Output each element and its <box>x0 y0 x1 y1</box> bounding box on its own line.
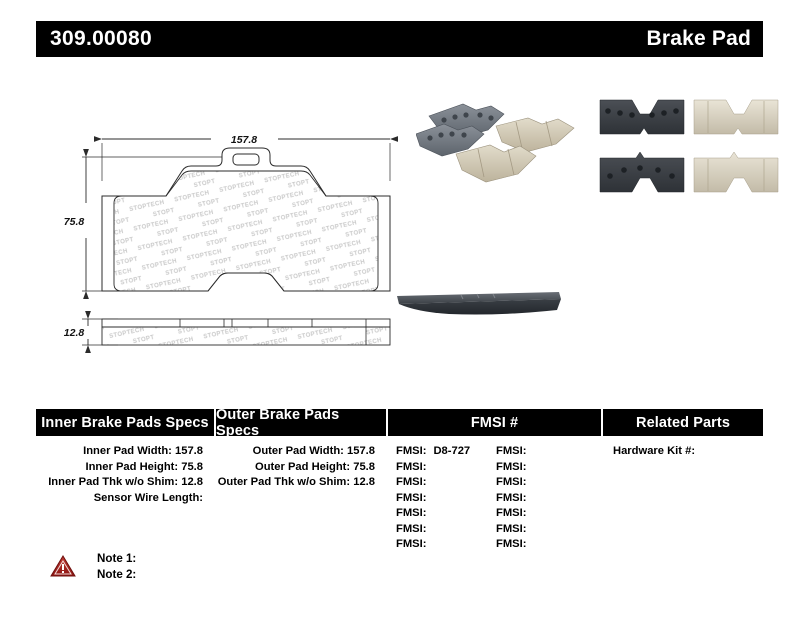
pad-edge-view <box>102 319 390 345</box>
table-body-row: Inner Pad Width: 157.8 Inner Pad Height:… <box>36 436 763 553</box>
fmsi-label: FMSI: <box>496 460 526 476</box>
spec-value: 157.8 <box>347 445 375 457</box>
fmsi-label: FMSI: <box>396 522 426 538</box>
spec-value: 75.8 <box>181 461 203 473</box>
notes-text: Note 1: Note 2: <box>97 551 136 583</box>
photo-pad-edge <box>391 280 566 330</box>
photo-pads-angled <box>416 90 586 190</box>
fmsi-label: FMSI: <box>396 475 426 491</box>
fmsi-row: FMSI: <box>396 522 496 538</box>
spec-label: Inner Pad Width: <box>83 445 172 457</box>
fmsi-row: FMSI: <box>496 460 596 476</box>
fmsi-value: D8-727 <box>426 444 470 460</box>
fmsi-row: FMSI: <box>496 537 596 553</box>
spec-label: Outer Pad Height: <box>255 461 350 473</box>
part-number: 309.00080 <box>50 27 152 51</box>
table-header-fmsi: FMSI # <box>388 409 603 436</box>
spec-row: Sensor Wire Length: <box>36 491 203 507</box>
spec-value: 12.8 <box>353 476 375 488</box>
spec-label: Inner Pad Thk w/o Shim: <box>48 476 178 488</box>
fmsi-row: FMSI:D8-727 <box>396 444 496 460</box>
specs-table: Inner Brake Pads Specs Outer Brake Pads … <box>36 409 763 553</box>
spec-row: Inner Pad Height: 75.8 <box>36 460 203 476</box>
fmsi-row: FMSI: <box>396 537 496 553</box>
notes-block: Note 1: Note 2: <box>50 551 136 583</box>
fmsi-row: FMSI: <box>496 444 596 460</box>
table-header-related-parts: Related Parts <box>603 409 763 436</box>
spec-label: Outer Pad Thk w/o Shim: <box>218 476 350 488</box>
pad-friction-surface <box>114 171 378 291</box>
width-dimension-label: 157.8 <box>231 134 257 146</box>
fmsi-label: FMSI: <box>496 475 526 491</box>
height-dimension-label: 75.8 <box>64 216 85 228</box>
drawing-area: STOPTECH STOPTECH 157.8 75.8 <box>36 75 763 385</box>
fmsi-row: FMSI: <box>496 522 596 538</box>
related-part-row: Hardware Kit #: <box>603 444 763 460</box>
header-bar: 309.00080 Brake Pad <box>36 21 763 57</box>
fmsi-label: FMSI: <box>396 537 426 553</box>
fmsi-label: FMSI: <box>396 460 426 476</box>
note-line-2: Note 2: <box>97 567 136 583</box>
spec-value: 157.8 <box>175 445 203 457</box>
spec-value: 75.8 <box>353 461 375 473</box>
spec-row: Outer Pad Thk w/o Shim: 12.8 <box>216 475 375 491</box>
spec-row: Inner Pad Thk w/o Shim: 12.8 <box>36 475 203 491</box>
technical-drawing: STOPTECH STOPTECH 157.8 75.8 <box>56 95 406 360</box>
spec-row: Outer Pad Width: 157.8 <box>216 444 375 460</box>
table-header-inner-specs: Inner Brake Pads Specs <box>36 409 216 436</box>
spec-row: Outer Pad Height: 75.8 <box>216 460 375 476</box>
spec-label: Outer Pad Width: <box>253 445 344 457</box>
page-title: Brake Pad <box>646 27 751 51</box>
fmsi-column-left: FMSI:D8-727 FMSI: FMSI: FMSI: FMSI: <box>396 444 496 553</box>
fmsi-row: FMSI: <box>396 475 496 491</box>
fmsi-label: FMSI: <box>496 506 526 522</box>
fmsi-row: FMSI: <box>396 506 496 522</box>
note-line-1: Note 1: <box>97 551 136 567</box>
fmsi-label: FMSI: <box>496 444 526 460</box>
spec-row: Inner Pad Width: 157.8 <box>36 444 203 460</box>
spec-value: 12.8 <box>181 476 203 488</box>
fmsi-column-right: FMSI: FMSI: FMSI: FMSI: FMSI: <box>496 444 596 553</box>
fmsi-row: FMSI: <box>396 491 496 507</box>
thickness-dimension-label: 12.8 <box>64 327 85 339</box>
fmsi-label: FMSI: <box>496 522 526 538</box>
table-header-row: Inner Brake Pads Specs Outer Brake Pads … <box>36 409 763 436</box>
fmsi-label: FMSI: <box>396 444 426 460</box>
fmsi-label: FMSI: <box>496 491 526 507</box>
fmsi-label: FMSI: <box>496 537 526 553</box>
fmsi-row: FMSI: <box>396 460 496 476</box>
table-header-outer-specs: Outer Brake Pads Specs <box>216 409 388 436</box>
pad-tab-slot <box>233 154 259 165</box>
related-parts-cell: Hardware Kit #: <box>603 444 763 553</box>
photo-pads-grid <box>596 90 781 205</box>
fmsi-label: FMSI: <box>396 506 426 522</box>
fmsi-columns: FMSI:D8-727 FMSI: FMSI: FMSI: FMSI: <box>388 444 603 553</box>
fmsi-cell: FMSI:D8-727 FMSI: FMSI: FMSI: FMSI: <box>388 444 603 553</box>
fmsi-label: FMSI: <box>396 491 426 507</box>
spec-label: Sensor Wire Length: <box>94 492 203 504</box>
inner-specs-cell: Inner Pad Width: 157.8 Inner Pad Height:… <box>36 444 216 553</box>
fmsi-row: FMSI: <box>496 475 596 491</box>
pad-face-view <box>102 148 390 291</box>
fmsi-row: FMSI: <box>496 506 596 522</box>
fmsi-row: FMSI: <box>496 491 596 507</box>
spec-label: Inner Pad Height: <box>85 461 178 473</box>
outer-specs-cell: Outer Pad Width: 157.8 Outer Pad Height:… <box>216 444 388 553</box>
warning-triangle-icon <box>50 554 76 578</box>
